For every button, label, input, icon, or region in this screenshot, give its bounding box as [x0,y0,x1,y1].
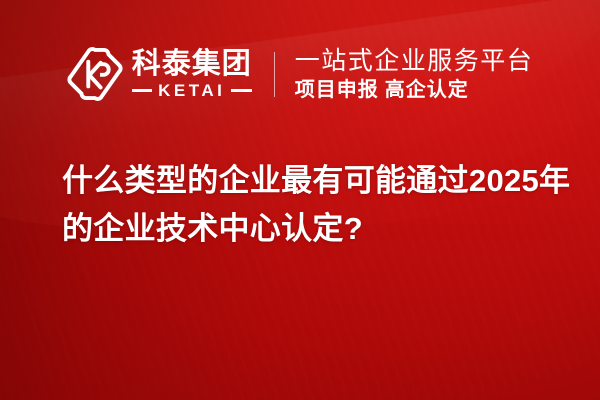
ketai-diamond-kp-monogram-icon [67,46,123,102]
brand-tagline: 一站式企业服务平台 项目申报 高企认定 [275,48,534,101]
brand-wordmark: 科泰集团 KETAI [132,50,252,99]
brand-name-en: KETAI [158,82,225,99]
tagline-secondary: 项目申报 高企认定 [295,79,534,101]
brand-logo[interactable]: 科泰集团 KETAI [67,46,274,102]
tagline-primary: 一站式企业服务平台 [295,48,534,75]
brand-name-en-row: KETAI [132,82,252,99]
brand-name-cn: 科泰集团 [132,50,252,79]
wordmark-rule-left [132,89,152,92]
promo-banner: 科泰集团 KETAI 一站式企业服务平台 项目申报 高企认定 什么类型的企业最有… [0,0,600,400]
banner-headline: 什么类型的企业最有可能通过2025年的企业技术中心认定? [62,157,572,253]
banner-header: 科泰集团 KETAI 一站式企业服务平台 项目申报 高企认定 [0,38,600,110]
wordmark-rule-right [231,89,251,92]
